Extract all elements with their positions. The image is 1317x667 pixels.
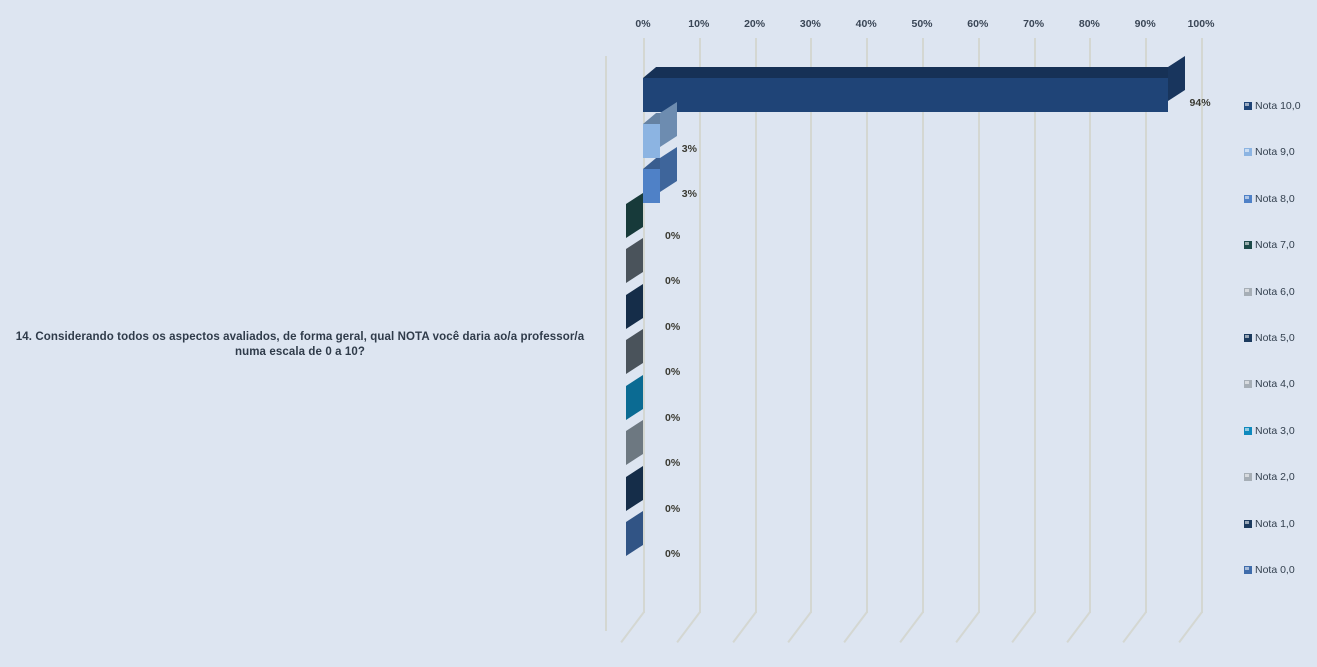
bar-data-label: 3% bbox=[682, 188, 697, 200]
bar-100[interactable] bbox=[643, 78, 1168, 112]
floor-gridline-80 bbox=[1067, 611, 1091, 643]
bar-data-label: 0% bbox=[665, 366, 680, 378]
x-axis-tick-60: 60% bbox=[967, 18, 988, 30]
floor-gridline-90 bbox=[1123, 611, 1147, 643]
x-axis-tick-30: 30% bbox=[800, 18, 821, 30]
legend-label: Nota 10,0 bbox=[1255, 100, 1301, 112]
bar-row: 0% bbox=[600, 295, 1217, 340]
bar-row: 0% bbox=[600, 249, 1217, 294]
bar-front-face bbox=[643, 169, 660, 203]
bar-90[interactable] bbox=[643, 124, 660, 158]
legend-swatch-icon bbox=[1244, 241, 1252, 249]
chart-canvas: 14. Considerando todos os aspectos avali… bbox=[0, 0, 1317, 667]
legend-label: Nota 6,0 bbox=[1255, 286, 1295, 298]
legend-label: Nota 7,0 bbox=[1255, 239, 1295, 251]
floor-gridline-50 bbox=[899, 611, 923, 643]
bar-top-face bbox=[643, 67, 1181, 78]
floor-gridline-60 bbox=[955, 611, 979, 643]
bar-row: 0% bbox=[600, 340, 1217, 385]
legend-item-40[interactable]: Nota 4,0 bbox=[1244, 378, 1295, 390]
legend-label: Nota 4,0 bbox=[1255, 378, 1295, 390]
legend-item-20[interactable]: Nota 2,0 bbox=[1244, 471, 1295, 483]
bar-front-face bbox=[643, 124, 660, 158]
bar-row: 3% bbox=[600, 113, 1217, 158]
bar-data-label: 0% bbox=[665, 321, 680, 333]
legend-swatch-icon bbox=[1244, 566, 1252, 574]
legend-item-70[interactable]: Nota 7,0 bbox=[1244, 239, 1295, 251]
legend-swatch-icon bbox=[1244, 334, 1252, 342]
legend-swatch-icon bbox=[1244, 195, 1252, 203]
bar-row: 0% bbox=[600, 522, 1217, 567]
bar-data-label: 94% bbox=[1190, 97, 1211, 109]
bar-row: 3% bbox=[600, 158, 1217, 203]
floor-gridline-30 bbox=[788, 611, 812, 643]
x-axis-tick-20: 20% bbox=[744, 18, 765, 30]
floor-gridline-20 bbox=[732, 611, 756, 643]
bar-data-label: 3% bbox=[682, 143, 697, 155]
chart-category-question-label: 14. Considerando todos os aspectos avali… bbox=[0, 330, 600, 360]
bar-row: 0% bbox=[600, 431, 1217, 476]
legend-swatch-icon bbox=[1244, 102, 1252, 110]
legend-swatch-icon bbox=[1244, 148, 1252, 156]
bar-80[interactable] bbox=[643, 169, 660, 203]
legend-swatch-icon bbox=[1244, 380, 1252, 388]
bar-row: 0% bbox=[600, 477, 1217, 522]
legend-label: Nota 1,0 bbox=[1255, 518, 1295, 530]
legend-item-100[interactable]: Nota 10,0 bbox=[1244, 100, 1301, 112]
floor-gridline-0 bbox=[620, 611, 644, 643]
bar-row: 0% bbox=[600, 386, 1217, 431]
x-axis-tick-0: 0% bbox=[635, 18, 650, 30]
floor-gridline-70 bbox=[1011, 611, 1035, 643]
bar-row: 0% bbox=[600, 204, 1217, 249]
legend-label: Nota 9,0 bbox=[1255, 146, 1295, 158]
bar-row: 94% bbox=[600, 67, 1217, 112]
floor-gridline-10 bbox=[676, 611, 700, 643]
floor-gridline-100 bbox=[1178, 611, 1202, 643]
x-axis-tick-100: 100% bbox=[1188, 18, 1215, 30]
legend-item-50[interactable]: Nota 5,0 bbox=[1244, 332, 1295, 344]
bar-data-label: 0% bbox=[665, 412, 680, 424]
legend-swatch-icon bbox=[1244, 520, 1252, 528]
bar-data-label: 0% bbox=[665, 230, 680, 242]
legend-label: Nota 0,0 bbox=[1255, 564, 1295, 576]
floor-gridline-40 bbox=[844, 611, 868, 643]
x-axis-tick-10: 10% bbox=[688, 18, 709, 30]
legend-label: Nota 3,0 bbox=[1255, 425, 1295, 437]
legend-item-10[interactable]: Nota 1,0 bbox=[1244, 518, 1295, 530]
legend-swatch-icon bbox=[1244, 288, 1252, 296]
legend-label: Nota 5,0 bbox=[1255, 332, 1295, 344]
legend-label: Nota 2,0 bbox=[1255, 471, 1295, 483]
legend-label: Nota 8,0 bbox=[1255, 193, 1295, 205]
legend-item-80[interactable]: Nota 8,0 bbox=[1244, 193, 1295, 205]
plot-area: 0%10%20%30%40%50%60%70%80%90%100% 94%3%3… bbox=[600, 10, 1217, 650]
x-axis-tick-50: 50% bbox=[911, 18, 932, 30]
legend-item-60[interactable]: Nota 6,0 bbox=[1244, 286, 1295, 298]
bar-data-label: 0% bbox=[665, 457, 680, 469]
axis-wall-edge bbox=[605, 56, 607, 631]
legend-item-00[interactable]: Nota 0,0 bbox=[1244, 564, 1295, 576]
bar-data-label: 0% bbox=[665, 275, 680, 287]
x-axis-tick-90: 90% bbox=[1135, 18, 1156, 30]
legend-item-30[interactable]: Nota 3,0 bbox=[1244, 425, 1295, 437]
bar-front-face bbox=[643, 78, 1168, 112]
bar-side-face bbox=[1168, 56, 1185, 101]
x-axis-tick-40: 40% bbox=[856, 18, 877, 30]
x-axis-tick-70: 70% bbox=[1023, 18, 1044, 30]
bar-data-label: 0% bbox=[665, 503, 680, 515]
legend-item-90[interactable]: Nota 9,0 bbox=[1244, 146, 1295, 158]
legend-swatch-icon bbox=[1244, 473, 1252, 481]
x-axis-tick-80: 80% bbox=[1079, 18, 1100, 30]
legend-swatch-icon bbox=[1244, 427, 1252, 435]
bar-data-label: 0% bbox=[665, 548, 680, 560]
